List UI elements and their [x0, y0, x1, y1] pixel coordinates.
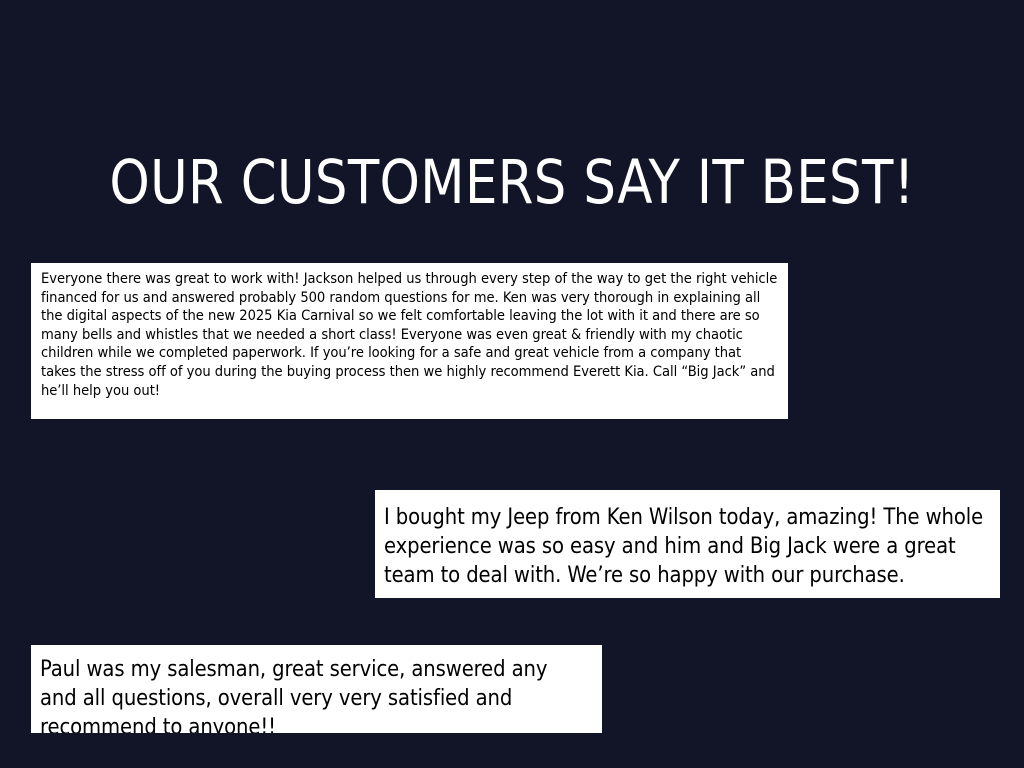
- testimonial-text: Everyone there was great to work with! J…: [41, 270, 778, 400]
- page-title: OUR CUSTOMERS SAY IT BEST!: [33, 149, 990, 217]
- testimonial-text: Paul was my salesman, great service, ans…: [40, 655, 590, 733]
- presentation-slide: OUR CUSTOMERS SAY IT BEST! Everyone ther…: [0, 0, 1024, 768]
- testimonial-card-3: Paul was my salesman, great service, ans…: [31, 645, 602, 733]
- testimonial-card-1: Everyone there was great to work with! J…: [31, 263, 788, 419]
- testimonial-text: I bought my Jeep from Ken Wilson today, …: [384, 503, 984, 590]
- testimonial-card-2: I bought my Jeep from Ken Wilson today, …: [375, 490, 1000, 598]
